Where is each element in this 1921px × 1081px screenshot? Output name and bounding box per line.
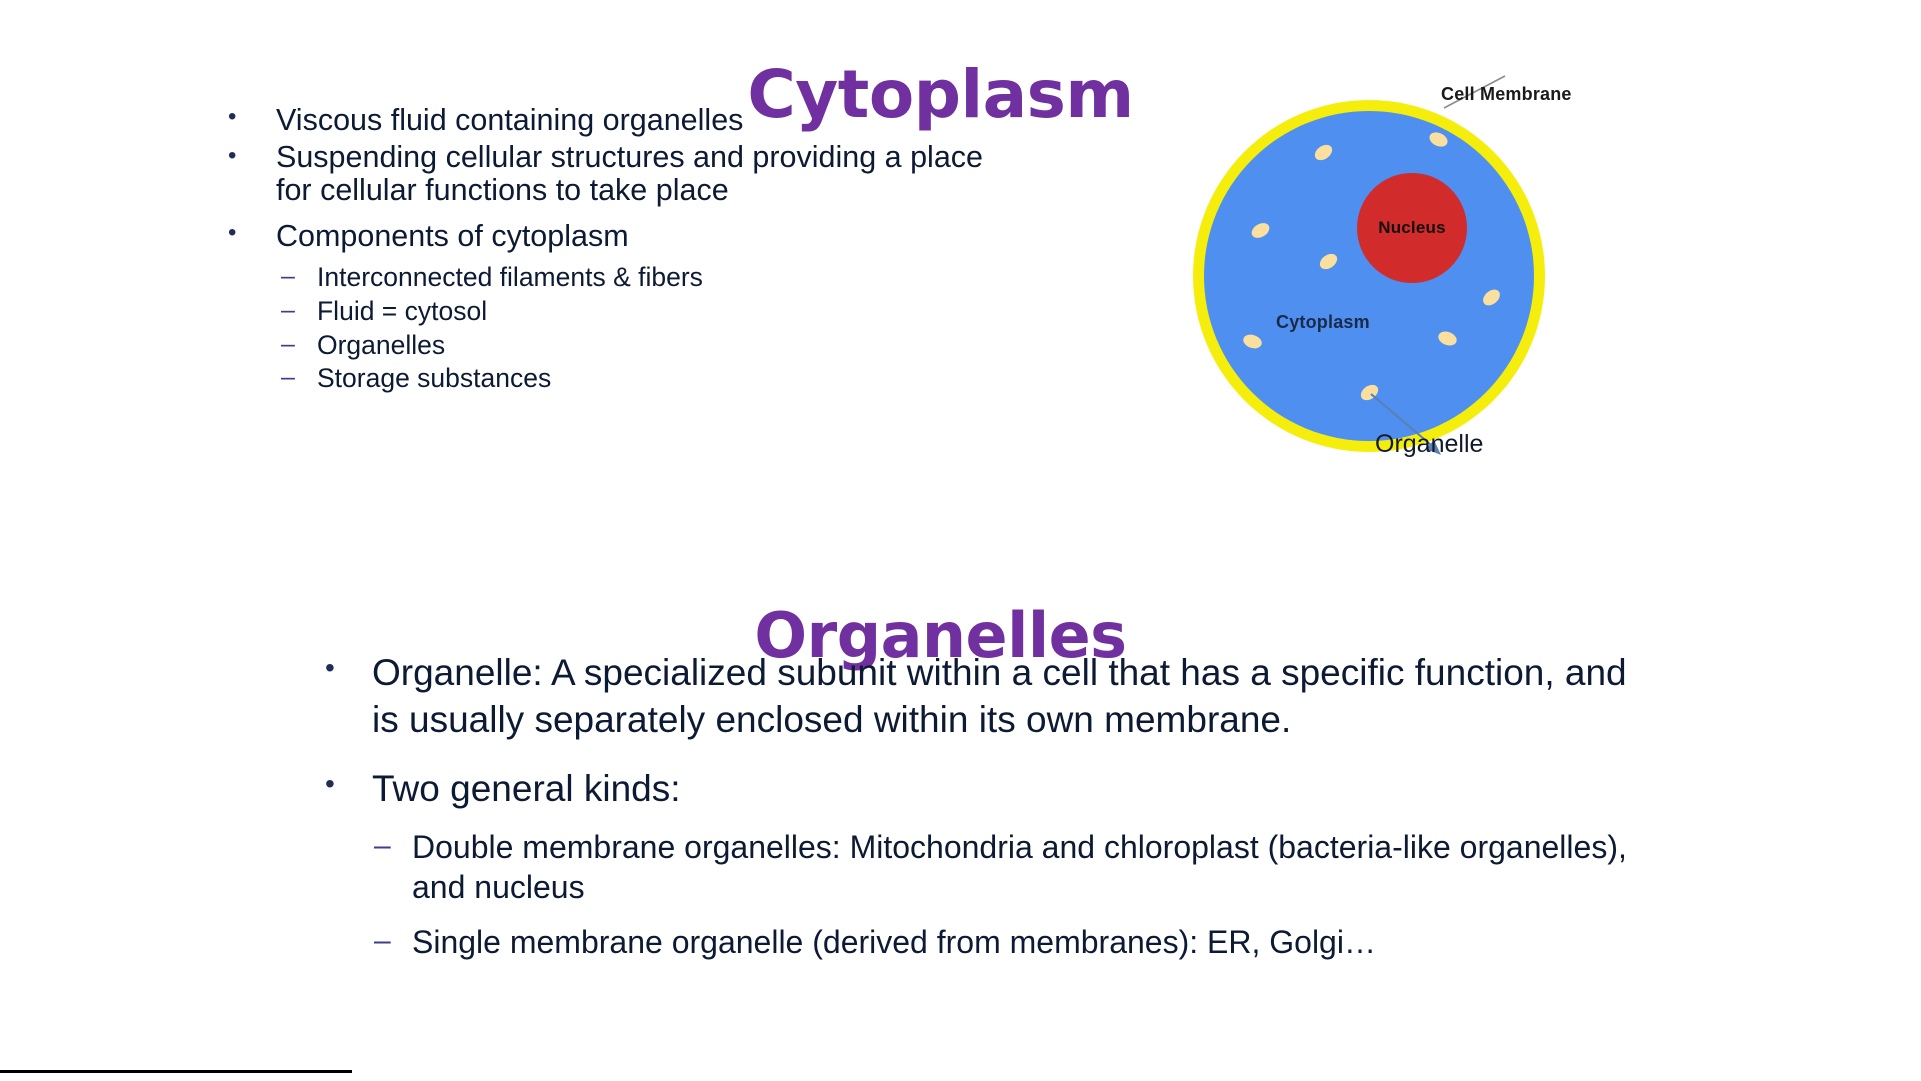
- dash-marker: –: [281, 261, 317, 293]
- list-item-text: Suspending cellular structures and provi…: [276, 141, 988, 206]
- dash-marker: –: [374, 827, 412, 865]
- list-item: – Storage substances: [281, 362, 988, 396]
- cytoplasm-bullet-list: • Viscous fluid containing organelles • …: [228, 102, 988, 396]
- list-item: • Organelle: A specialized subunit withi…: [325, 650, 1645, 744]
- list-item-text: Two general kinds:: [372, 766, 1645, 813]
- diagram-leader-lines: [1185, 78, 1605, 478]
- bullet-marker: •: [228, 141, 276, 172]
- list-item: – Organelles: [281, 329, 988, 363]
- list-item: • Suspending cellular structures and pro…: [228, 141, 988, 206]
- slide-organelles: Organelles • Organelle: A specialized su…: [0, 545, 1921, 1081]
- list-item-text: Double membrane organelles: Mitochondria…: [412, 827, 1645, 908]
- dash-marker: –: [281, 362, 317, 394]
- list-item: – Double membrane organelles: Mitochondr…: [374, 827, 1645, 908]
- list-item: – Fluid = cytosol: [281, 295, 988, 329]
- list-item: • Two general kinds:: [325, 766, 1645, 813]
- dash-marker: –: [374, 922, 412, 960]
- list-item: • Viscous fluid containing organelles: [228, 102, 988, 139]
- dash-marker: –: [281, 295, 317, 327]
- page-divider-rule: [0, 1070, 352, 1073]
- list-item-text: Organelles: [317, 329, 988, 363]
- bullet-marker: •: [325, 650, 372, 687]
- list-item-text: Interconnected filaments & fibers: [317, 261, 988, 295]
- organelle-label: Organelle: [1375, 430, 1483, 459]
- list-item-text: Viscous fluid containing organelles: [276, 102, 988, 139]
- bullet-marker: •: [325, 766, 372, 803]
- list-item-text: Components of cytoplasm: [276, 218, 988, 255]
- next-slide-peek: [352, 1070, 1921, 1081]
- list-item: – Single membrane organelle (derived fro…: [374, 922, 1645, 962]
- organelles-bullet-list: • Organelle: A specialized subunit withi…: [325, 650, 1645, 976]
- bullet-marker: •: [228, 102, 276, 133]
- bullet-marker: •: [228, 218, 276, 249]
- list-item: • Components of cytoplasm: [228, 218, 988, 255]
- list-item-text: Storage substances: [317, 362, 988, 396]
- list-item-text: Fluid = cytosol: [317, 295, 988, 329]
- list-item: – Interconnected filaments & fibers: [281, 261, 988, 295]
- cell-membrane-label: Cell Membrane: [1441, 84, 1572, 105]
- cell-diagram: Nucleus Cytoplasm Cell Membrane Organell…: [1185, 78, 1605, 478]
- list-item-text: Single membrane organelle (derived from …: [412, 922, 1645, 962]
- slide-cytoplasm: Cytoplasm • Viscous fluid containing org…: [0, 0, 1921, 545]
- dash-marker: –: [281, 329, 317, 361]
- list-item-text: Organelle: A specialized subunit within …: [372, 650, 1645, 744]
